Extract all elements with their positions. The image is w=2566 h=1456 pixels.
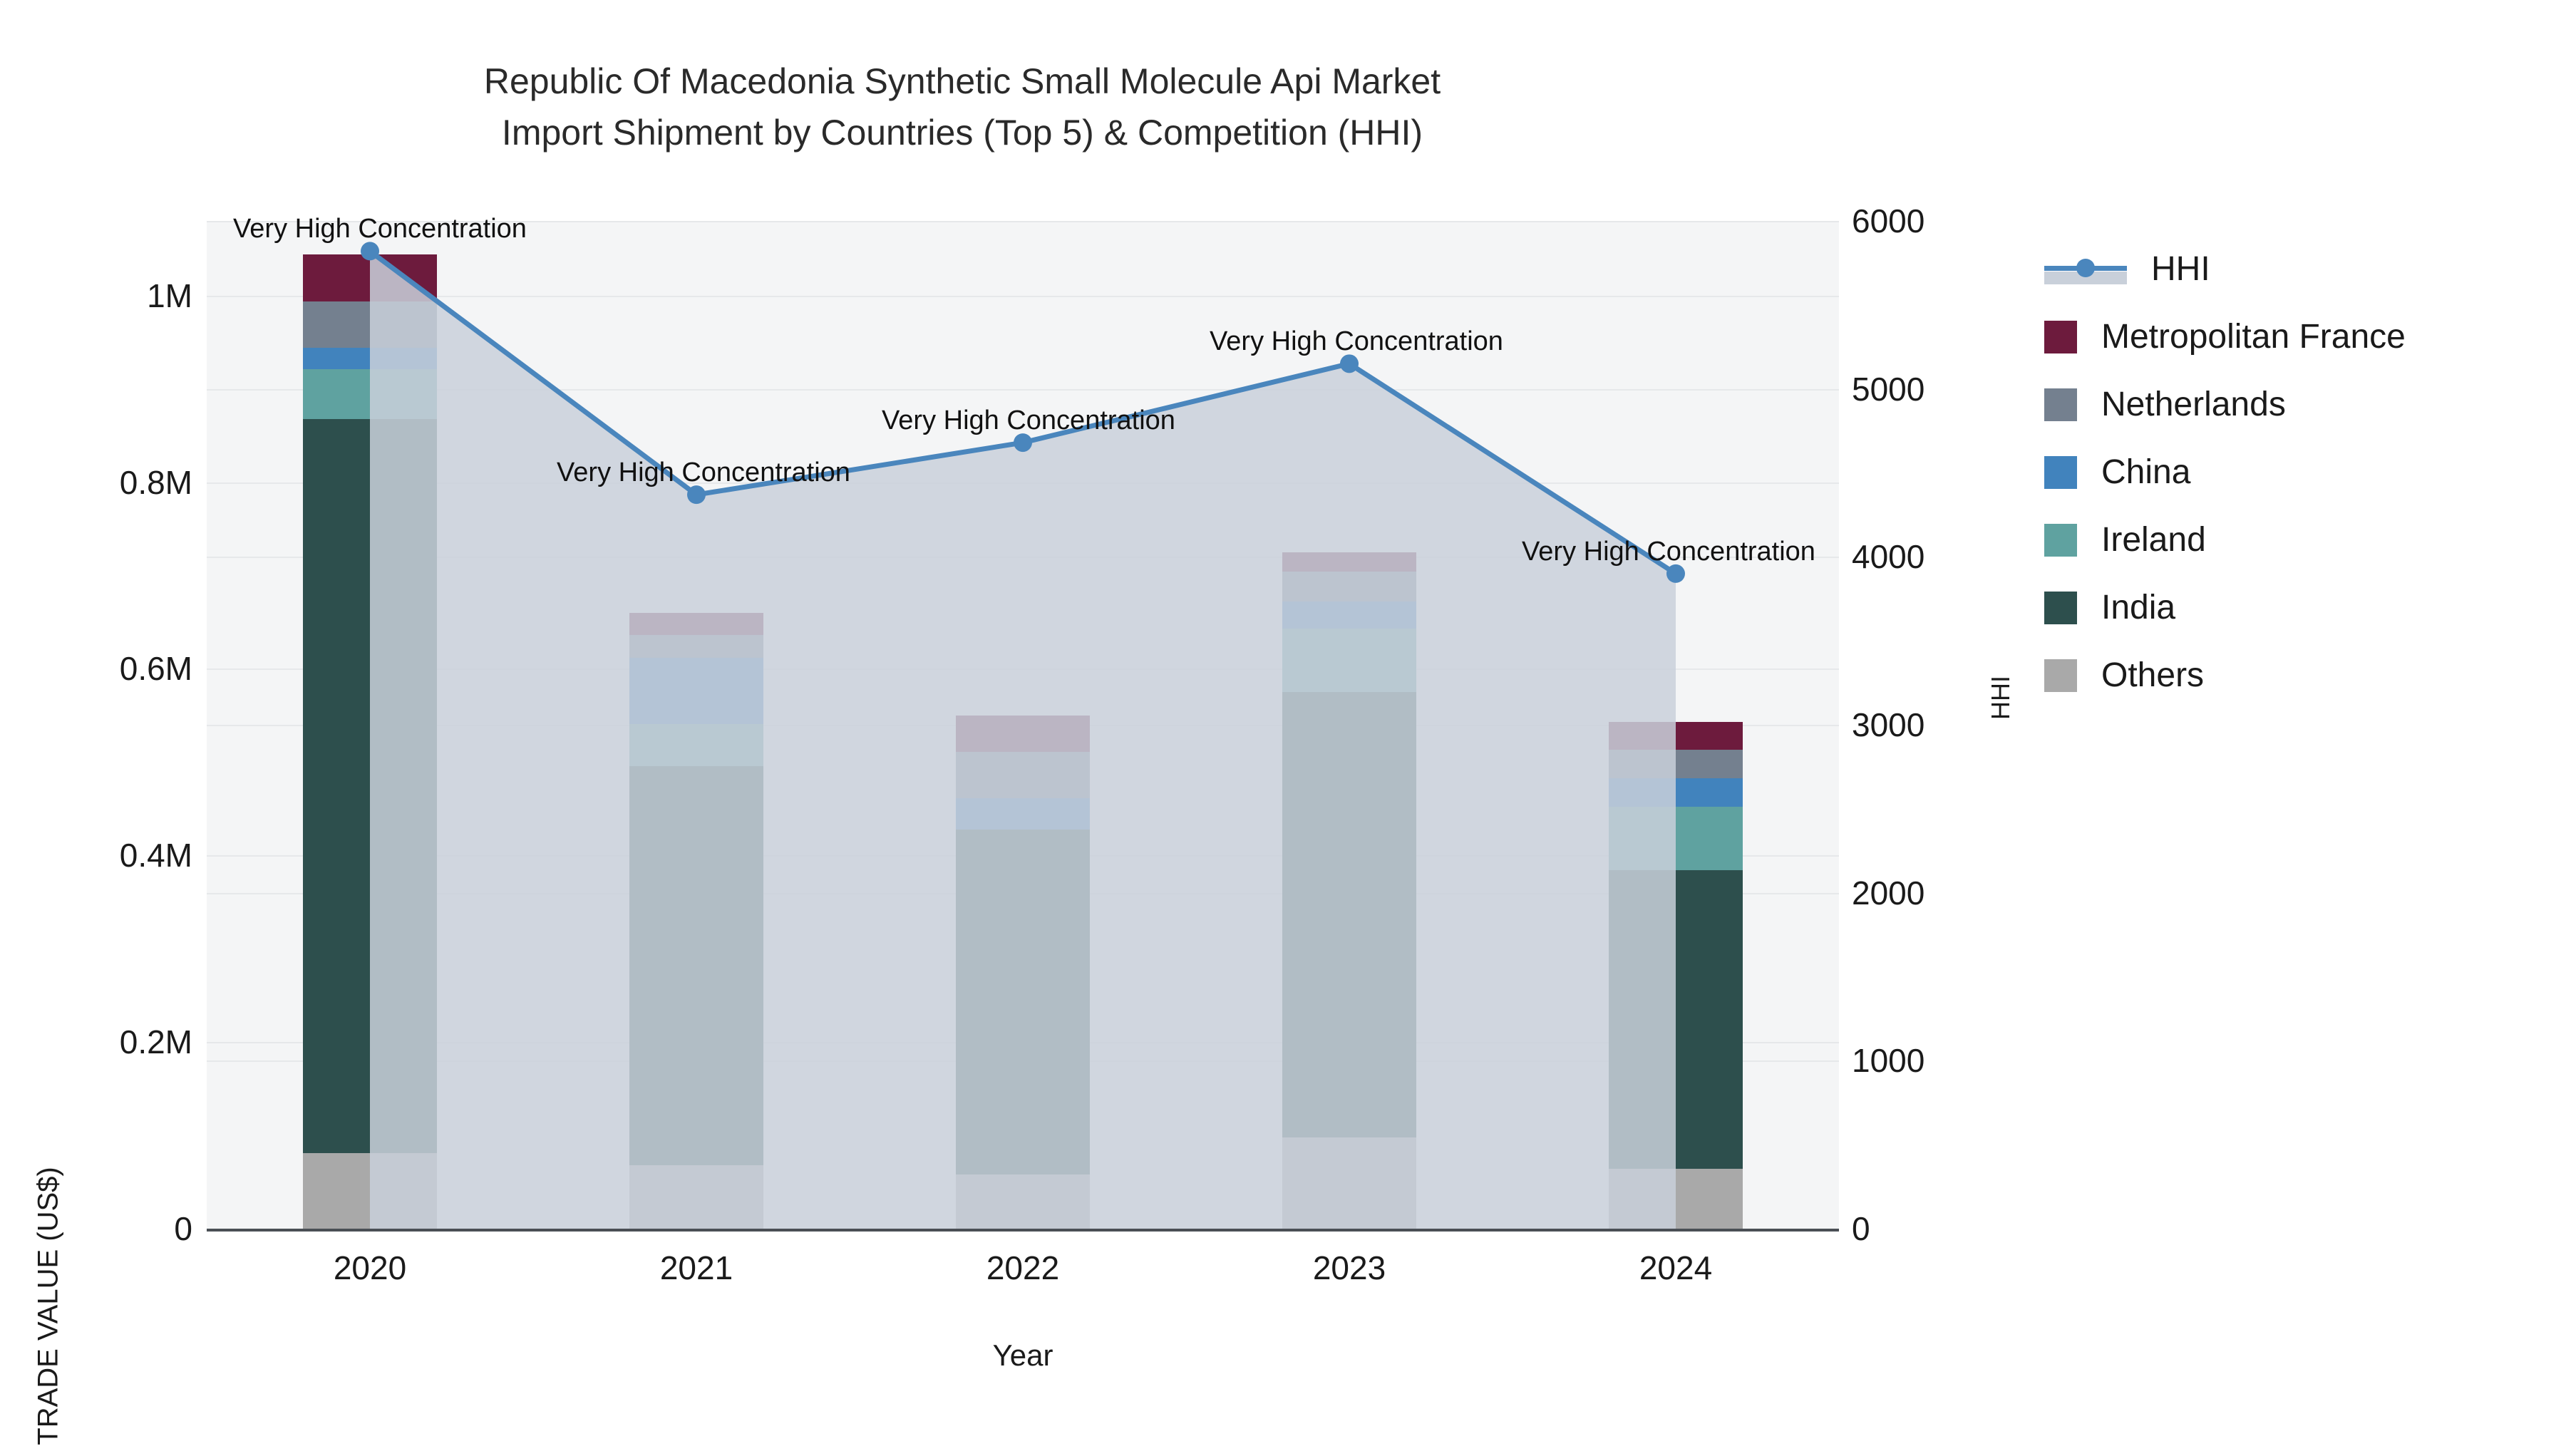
bar-segment-2022-netherlands[interactable] — [956, 752, 1090, 798]
bar-segment-2022-china[interactable] — [956, 798, 1090, 829]
x-axis-baseline — [207, 1229, 1839, 1232]
bar-segment-2023-india[interactable] — [1282, 692, 1416, 1137]
bar-segment-2020-netherlands[interactable] — [303, 301, 437, 348]
legend-swatch-icon — [2044, 659, 2077, 692]
legend-label: China — [2101, 453, 2190, 492]
bar-segment-2020-china[interactable] — [303, 348, 437, 369]
x-tick-2020: 2020 — [334, 1249, 406, 1287]
plot-area — [207, 221, 1839, 1229]
chart-root: Republic Of Macedonia Synthetic Small Mo… — [0, 0, 2566, 1443]
annotation-2020: Very High Concentration — [233, 214, 527, 244]
y-tick-right-4000: 4000 — [1852, 537, 1924, 576]
legend-swatch-icon — [2044, 388, 2077, 421]
annotation-2023: Very High Concentration — [1210, 326, 1503, 357]
legend-label: HHI — [2151, 249, 2210, 289]
chart-title-line-2: Import Shipment by Countries (Top 5) & C… — [0, 107, 1924, 158]
legend-label: Others — [2101, 656, 2204, 695]
legend-line-marker-icon — [2044, 253, 2127, 286]
y-tick-right-6000: 6000 — [1852, 202, 1924, 240]
y-tick-right-2000: 2000 — [1852, 874, 1924, 912]
y-axis-left-title: TRADE VALUE (US$) — [33, 1157, 65, 1456]
bar-segment-2020-metropolitan-france[interactable] — [303, 254, 437, 301]
bar-segment-2021-china[interactable] — [629, 658, 763, 724]
bar-group-2020[interactable] — [303, 221, 437, 1229]
bar-group-2023[interactable] — [1282, 221, 1416, 1229]
bar-segment-2023-china[interactable] — [1282, 601, 1416, 629]
x-tick-2023: 2023 — [1313, 1249, 1386, 1287]
bar-segment-2023-ireland[interactable] — [1282, 629, 1416, 692]
bar-segment-2021-metropolitan-france[interactable] — [629, 613, 763, 635]
legend-label: Metropolitan France — [2101, 317, 2406, 356]
x-tick-2024: 2024 — [1639, 1249, 1712, 1287]
legend-item-ireland[interactable]: Ireland — [2044, 506, 2406, 574]
legend-swatch-icon — [2044, 456, 2077, 489]
chart-title-line-1: Republic Of Macedonia Synthetic Small Mo… — [0, 56, 1924, 107]
x-axis-title: Year — [0, 1338, 2046, 1373]
bar-segment-2022-others[interactable] — [956, 1174, 1090, 1229]
bar-segment-2023-others[interactable] — [1282, 1137, 1416, 1229]
bar-segment-2021-india[interactable] — [629, 766, 763, 1165]
legend-item-metropolitan-france[interactable]: Metropolitan France — [2044, 303, 2406, 371]
y-axis-left-title-holder: TRADE VALUE (US$) — [13, 577, 56, 862]
bar-segment-2024-ireland[interactable] — [1609, 807, 1743, 870]
legend-swatch-icon — [2044, 592, 2077, 624]
bar-segment-2024-india[interactable] — [1609, 870, 1743, 1169]
bar-segment-2021-netherlands[interactable] — [629, 635, 763, 657]
y-tick-right-0: 0 — [1852, 1209, 1870, 1248]
y-tick-left-1M: 1M — [147, 277, 192, 315]
annotation-2022: Very High Concentration — [882, 406, 1175, 436]
bar-segment-2020-ireland[interactable] — [303, 369, 437, 418]
legend-item-china[interactable]: China — [2044, 438, 2406, 506]
legend-label: Netherlands — [2101, 385, 2286, 424]
bar-segment-2024-china[interactable] — [1609, 778, 1743, 807]
y-tick-left-0.8M: 0.8M — [120, 463, 192, 502]
bar-group-2022[interactable] — [956, 221, 1090, 1229]
legend-item-netherlands[interactable]: Netherlands — [2044, 371, 2406, 438]
chart-title: Republic Of Macedonia Synthetic Small Mo… — [0, 56, 1924, 158]
y-tick-right-5000: 5000 — [1852, 370, 1924, 408]
bar-segment-2022-metropolitan-france[interactable] — [956, 716, 1090, 752]
bar-segment-2024-others[interactable] — [1609, 1169, 1743, 1229]
x-tick-2021: 2021 — [660, 1249, 733, 1287]
y-tick-right-3000: 3000 — [1852, 706, 1924, 744]
annotation-2021: Very High Concentration — [557, 458, 850, 488]
legend-swatch-icon — [2044, 524, 2077, 557]
bar-segment-2023-netherlands[interactable] — [1282, 572, 1416, 601]
bar-segment-2020-india[interactable] — [303, 419, 437, 1153]
legend-item-others[interactable]: Others — [2044, 641, 2406, 709]
x-tick-2022: 2022 — [986, 1249, 1059, 1287]
annotation-2024: Very High Concentration — [1522, 537, 1815, 567]
bar-segment-2020-others[interactable] — [303, 1153, 437, 1229]
y-tick-left-0.2M: 0.2M — [120, 1023, 192, 1061]
bar-segment-2024-netherlands[interactable] — [1609, 750, 1743, 778]
legend-item-hhi[interactable]: HHI — [2044, 235, 2406, 303]
y-tick-left-0.6M: 0.6M — [120, 649, 192, 688]
legend-swatch-icon — [2044, 321, 2077, 353]
legend-label: Ireland — [2101, 520, 2206, 559]
legend-item-india[interactable]: India — [2044, 574, 2406, 641]
y-tick-left-0.4M: 0.4M — [120, 836, 192, 874]
bar-segment-2021-ireland[interactable] — [629, 724, 763, 766]
plot-inner — [207, 221, 1839, 1229]
bar-segment-2021-others[interactable] — [629, 1165, 763, 1229]
bar-segment-2023-metropolitan-france[interactable] — [1282, 552, 1416, 572]
legend-label: India — [2101, 588, 2175, 627]
y-tick-right-1000: 1000 — [1852, 1041, 1924, 1080]
y-tick-left-0: 0 — [174, 1209, 192, 1248]
chart-legend: HHIMetropolitan FranceNetherlandsChinaIr… — [2044, 235, 2406, 709]
y-axis-right-title: HHI — [1986, 676, 2016, 720]
bar-segment-2024-metropolitan-france[interactable] — [1609, 722, 1743, 750]
bar-segment-2022-india[interactable] — [956, 830, 1090, 1174]
bar-group-2021[interactable] — [629, 221, 763, 1229]
bar-group-2024[interactable] — [1609, 221, 1743, 1229]
y-axis-right-ticks: 0100020003000400050006000 — [1852, 0, 2066, 1443]
